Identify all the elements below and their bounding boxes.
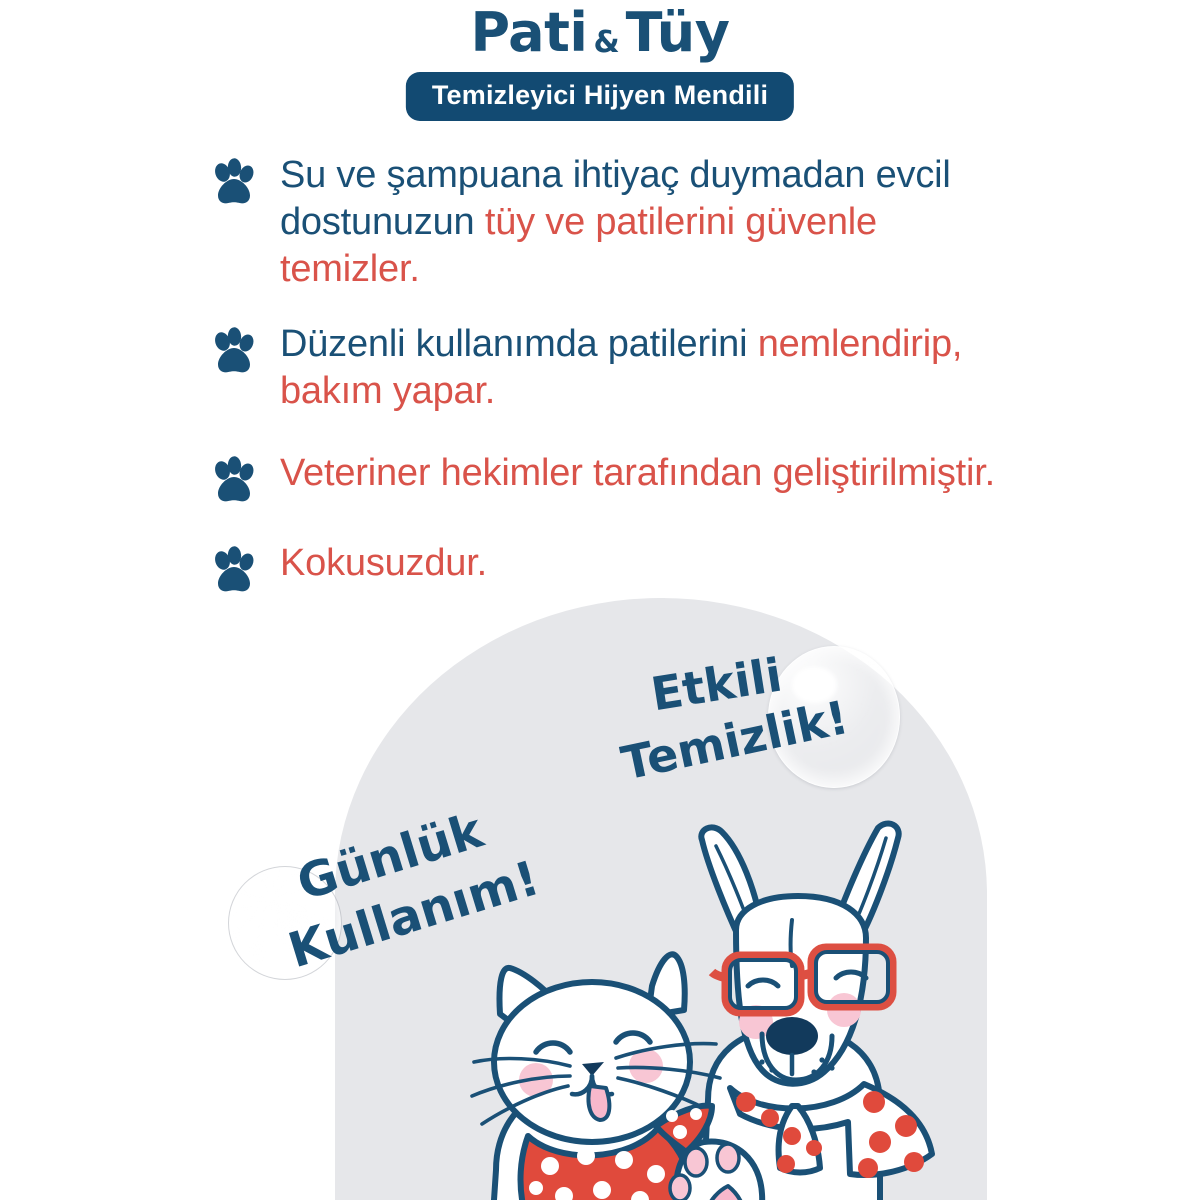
list-item: Su ve şampuana ihtiyaç duymadan evcil do… bbox=[210, 152, 1010, 293]
paw-icon bbox=[210, 327, 256, 377]
product-subtitle-badge: Temizleyici Hijyen Mendili bbox=[406, 72, 794, 121]
paw-icon bbox=[210, 546, 256, 596]
list-item-text-primary: Düzenli kullanımda patilerini bbox=[280, 323, 758, 365]
cat-illustration bbox=[472, 954, 762, 1200]
list-item-text: Veteriner hekimler tarafından geliştiril… bbox=[280, 450, 995, 497]
paw-icon bbox=[210, 158, 256, 208]
feature-list: Su ve şampuana ihtiyaç duymadan evcil do… bbox=[210, 152, 1010, 624]
brand-title: Pati&Tüy bbox=[0, 6, 1200, 64]
list-item-text-accent: Veteriner hekimler tarafından geliştiril… bbox=[280, 452, 995, 494]
list-item: Veteriner hekimler tarafından geliştiril… bbox=[210, 450, 1010, 506]
list-item: Düzenli kullanımda patilerini nemlendiri… bbox=[210, 321, 1010, 415]
list-item-text: Su ve şampuana ihtiyaç duymadan evcil do… bbox=[280, 152, 1010, 293]
dog-illustration bbox=[701, 823, 932, 1200]
pets-illustration bbox=[440, 770, 1060, 1200]
brand-name-first: Pati bbox=[471, 6, 588, 60]
list-item-text: Kokusuzdur. bbox=[280, 540, 487, 587]
list-item-text: Düzenli kullanımda patilerini nemlendiri… bbox=[280, 321, 1010, 415]
list-item-text-accent: Kokusuzdur. bbox=[280, 542, 487, 584]
brand-ampersand: & bbox=[587, 25, 625, 60]
product-info-poster: Pati&Tüy Temizleyici Hijyen Mendili Su v… bbox=[0, 0, 1200, 1200]
list-item: Kokusuzdur. bbox=[210, 540, 1010, 596]
paw-icon bbox=[210, 456, 256, 506]
brand-name-second: Tüy bbox=[626, 6, 730, 60]
